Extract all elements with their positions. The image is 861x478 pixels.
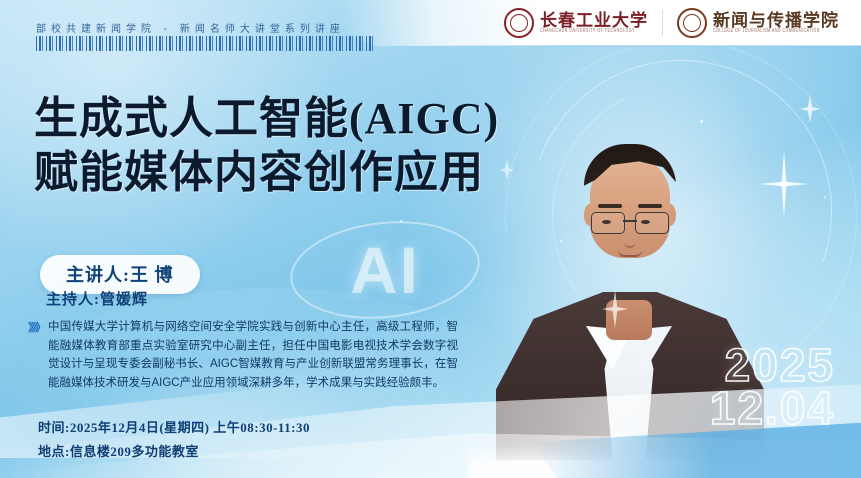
portrait-mouth (618, 250, 642, 257)
chevron-right-icon: 》》》 (28, 318, 44, 393)
glasses-lens-left (591, 212, 625, 234)
glasses-lens-right (635, 212, 669, 234)
title-line-2: 赋能媒体内容创作应用 (34, 146, 534, 200)
sparkle-star-icon (760, 150, 808, 218)
barcode-decoration (36, 36, 376, 51)
logo-university: 长春工业大学 CHANGCHUN UNIVERSITY OF TECHNOLOG… (504, 8, 648, 38)
header-divider-line (391, 45, 861, 47)
college-name-block: 新闻与传播学院 COLLEGE OF JOURNALISM AND COMMUN… (713, 12, 839, 34)
event-date-year: 2025 (710, 344, 835, 387)
sparkle-star-icon (602, 290, 628, 328)
speaker-bio-text: 中国传媒大学计算机与网络空间安全学院实践与创新中心主任，高级工程师，智能融媒体教… (48, 318, 458, 393)
glasses-icon (590, 212, 670, 234)
logo-college: 新闻与传播学院 COLLEGE OF JOURNALISM AND COMMUN… (677, 8, 839, 38)
logo-divider (662, 10, 663, 36)
event-place: 地点:信息楼209多功能教室 (38, 440, 310, 464)
poster-title: 生成式人工智能(AIGC) 赋能媒体内容创作应用 (34, 92, 534, 199)
portrait-nose (624, 232, 636, 248)
sparkle-star-icon (800, 95, 820, 123)
poster-canvas: AI 长春工业大学 CHANGCHUN UNIVERSITY OF TECHNO… (0, 0, 861, 478)
portrait-brow-right (638, 204, 662, 208)
event-date-day: 12.04 (710, 387, 835, 430)
university-name-en: CHANGCHUN UNIVERSITY OF TECHNOLOGY (540, 29, 648, 34)
logo-group: 长春工业大学 CHANGCHUN UNIVERSITY OF TECHNOLOG… (504, 8, 839, 38)
university-name-block: 长春工业大学 CHANGCHUN UNIVERSITY OF TECHNOLOG… (540, 12, 648, 34)
portrait-brow-left (598, 204, 622, 208)
ai-watermark: AI (290, 222, 480, 318)
series-kicker: 部校共建新闻学院 - 新闻名师大讲堂系列讲座 (36, 20, 345, 35)
glasses-bridge (623, 220, 637, 222)
ai-watermark-label: AI (290, 222, 480, 318)
event-date-large: 2025 12.04 (710, 344, 835, 430)
sparkle-dot (824, 196, 826, 198)
college-name-en: COLLEGE OF JOURNALISM AND COMMUNICATION (713, 29, 839, 34)
event-time: 时间:2025年12月4日(星期四) 上午08:30-11:30 (38, 416, 310, 440)
event-info: 时间:2025年12月4日(星期四) 上午08:30-11:30 地点:信息楼2… (38, 416, 310, 464)
title-line-1: 生成式人工智能(AIGC) (34, 92, 534, 146)
college-seal-icon (677, 8, 707, 38)
university-seal-icon (504, 8, 534, 38)
host-name: 主持人:管媛辉 (46, 288, 148, 309)
speaker-bio-block: 》》》 中国传媒大学计算机与网络空间安全学院实践与创新中心主任，高级工程师，智能… (28, 318, 458, 393)
